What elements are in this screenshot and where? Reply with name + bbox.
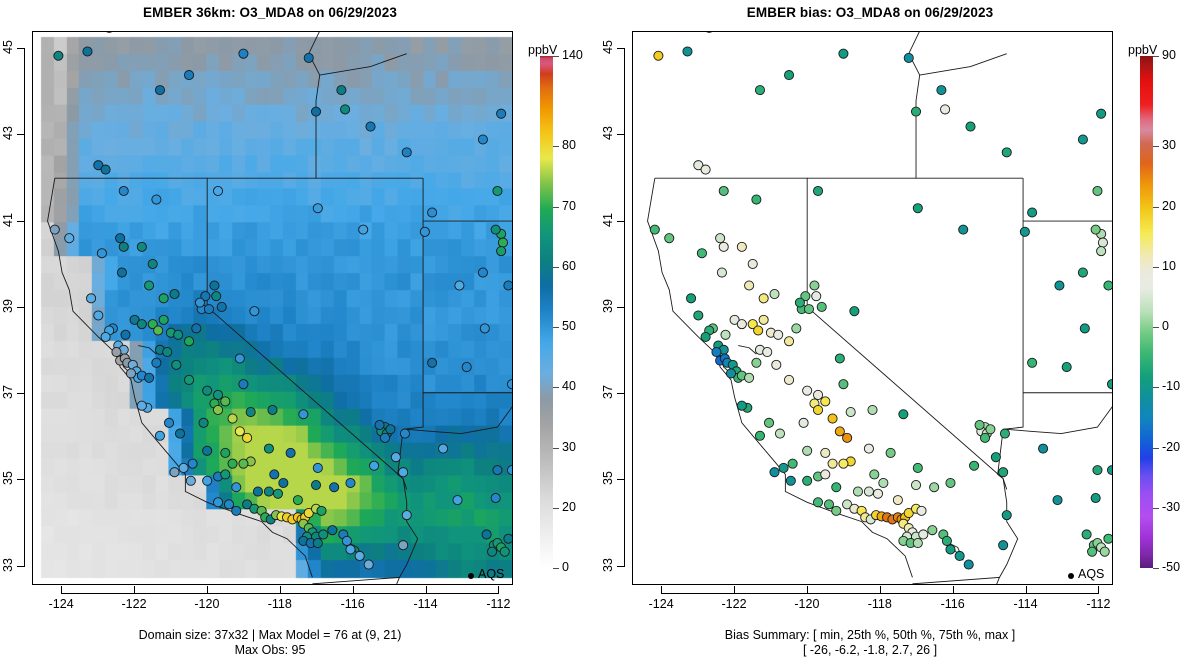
monitor-marker[interactable] xyxy=(213,405,222,414)
monitor-marker[interactable] xyxy=(975,420,984,429)
monitor-marker[interactable] xyxy=(839,380,848,389)
monitor-marker[interactable] xyxy=(97,249,106,258)
monitor-marker[interactable] xyxy=(184,70,193,79)
monitor-marker[interactable] xyxy=(759,315,768,324)
monitor-marker[interactable] xyxy=(1091,225,1100,234)
monitor-marker[interactable] xyxy=(119,186,128,195)
monitor-marker[interactable] xyxy=(478,268,487,277)
monitor-marker[interactable] xyxy=(1091,493,1100,502)
monitor-marker[interactable] xyxy=(391,453,400,462)
x-axis: -124-122-120-118-116-114-112 xyxy=(32,585,513,615)
x-tick-label: -116 xyxy=(935,597,971,611)
monitor-marker[interactable] xyxy=(311,107,320,116)
monitor-marker[interactable] xyxy=(1100,547,1109,556)
monitor-marker[interactable] xyxy=(224,500,233,509)
monitor-marker[interactable] xyxy=(164,418,173,427)
monitor-marker[interactable] xyxy=(803,386,812,395)
monitor-marker[interactable] xyxy=(453,496,462,505)
monitor-marker[interactable] xyxy=(763,347,772,356)
monitor-marker[interactable] xyxy=(1080,324,1089,333)
monitor-marker[interactable] xyxy=(1062,362,1071,371)
monitor-marker[interactable] xyxy=(235,354,244,363)
monitor-marker[interactable] xyxy=(428,208,437,217)
monitor-marker[interactable] xyxy=(152,195,161,204)
monitor-marker[interactable] xyxy=(213,186,222,195)
monitor-marker[interactable] xyxy=(210,281,219,290)
monitor-marker[interactable] xyxy=(1028,208,1037,217)
monitor-marker[interactable] xyxy=(665,234,674,243)
monitor-marker[interactable] xyxy=(1000,429,1009,438)
monitor-marker[interactable] xyxy=(380,433,389,442)
monitor-marker[interactable] xyxy=(402,511,411,520)
monitor-marker[interactable] xyxy=(946,545,955,554)
monitor-points xyxy=(633,32,1112,584)
monitor-marker[interactable] xyxy=(779,463,788,472)
monitor-marker[interactable] xyxy=(850,307,859,316)
monitor-marker[interactable] xyxy=(83,47,92,56)
colorbar-tick xyxy=(553,448,559,449)
monitor-marker[interactable] xyxy=(770,468,779,477)
monitor-marker[interactable] xyxy=(835,354,844,363)
colorbar-tick-label: 70 xyxy=(562,199,576,213)
monitor-marker[interactable] xyxy=(359,225,368,234)
colorbar-tick xyxy=(553,508,559,509)
monitor-marker[interactable] xyxy=(737,242,746,251)
monitor-marker[interactable] xyxy=(121,330,130,339)
monitor-marker[interactable] xyxy=(137,401,146,410)
monitor-marker[interactable] xyxy=(264,444,273,453)
monitor-marker[interactable] xyxy=(420,227,429,236)
monitor-marker[interactable] xyxy=(286,448,295,457)
monitor-marker[interactable] xyxy=(212,292,221,301)
monitor-marker[interactable] xyxy=(232,506,241,515)
monitor-marker[interactable] xyxy=(821,397,830,406)
y-tick xyxy=(17,566,25,567)
y-tick-label: 37 xyxy=(601,374,615,410)
monitor-marker[interactable] xyxy=(701,165,710,174)
monitor-marker[interactable] xyxy=(824,500,833,509)
monitor-marker[interactable] xyxy=(999,468,1008,477)
colorbar-tick-label: 10 xyxy=(1162,259,1176,273)
monitor-marker[interactable] xyxy=(913,538,922,547)
monitor-marker[interactable] xyxy=(268,405,277,414)
monitor-marker[interactable] xyxy=(913,463,922,472)
monitor-marker[interactable] xyxy=(788,459,797,468)
monitor-marker[interactable] xyxy=(1039,444,1048,453)
monitor-marker[interactable] xyxy=(504,281,512,290)
monitor-marker[interactable] xyxy=(1028,358,1037,367)
monitor-marker[interactable] xyxy=(964,560,973,569)
monitor-marker[interactable] xyxy=(399,541,408,550)
monitor-marker[interactable] xyxy=(228,459,237,468)
monitor-marker[interactable] xyxy=(1093,466,1102,475)
monitor-marker[interactable] xyxy=(337,86,346,95)
monitor-marker[interactable] xyxy=(792,324,801,333)
monitor-marker[interactable] xyxy=(813,405,822,414)
monitor-marker[interactable] xyxy=(126,369,135,378)
colorbar-gradient xyxy=(540,56,553,568)
monitor-marker[interactable] xyxy=(917,506,926,515)
x-tick-label: -118 xyxy=(262,597,298,611)
colorbar-gradient xyxy=(1140,56,1153,568)
monitor-marker[interactable] xyxy=(152,358,161,367)
monitor-marker[interactable] xyxy=(155,86,164,95)
monitor-marker[interactable] xyxy=(101,165,110,174)
monitor-marker[interactable] xyxy=(752,195,761,204)
monitor-marker[interactable] xyxy=(828,414,837,423)
monitor-marker[interactable] xyxy=(154,326,163,335)
monitor-marker[interactable] xyxy=(719,242,728,251)
monitor-marker[interactable] xyxy=(482,530,491,539)
monitor-marker[interactable] xyxy=(369,461,378,470)
monitor-marker[interactable] xyxy=(650,225,659,234)
monitor-marker[interactable] xyxy=(273,489,282,498)
monitor-marker[interactable] xyxy=(480,324,489,333)
monitor-marker[interactable] xyxy=(402,148,411,157)
monitor-marker[interactable] xyxy=(195,298,204,307)
monitor-marker[interactable] xyxy=(1055,281,1064,290)
monitor-marker[interactable] xyxy=(155,431,164,440)
monitor-marker[interactable] xyxy=(774,330,783,339)
x-tick-label: -122 xyxy=(116,597,152,611)
monitor-marker[interactable] xyxy=(886,448,895,457)
monitor-marker[interactable] xyxy=(507,466,512,475)
monitor-marker[interactable] xyxy=(745,373,754,382)
figure-root: EMBER 36km: O3_MDA8 on 06/29/2023AQS-124… xyxy=(0,0,1200,672)
y-axis: 33353739414345 xyxy=(602,31,632,585)
monitor-marker[interactable] xyxy=(683,47,692,56)
monitor-marker[interactable] xyxy=(946,478,955,487)
monitor-marker[interactable] xyxy=(755,86,764,95)
monitor-marker[interactable] xyxy=(795,298,804,307)
monitor-marker[interactable] xyxy=(1104,534,1112,543)
monitor-marker[interactable] xyxy=(507,380,512,389)
monitor-marker[interactable] xyxy=(784,375,793,384)
monitor-marker[interactable] xyxy=(172,360,181,369)
monitor-marker[interactable] xyxy=(813,498,822,507)
monitor-marker[interactable] xyxy=(491,493,500,502)
monitor-marker[interactable] xyxy=(145,373,154,382)
plot-area xyxy=(32,31,513,585)
monitor-marker[interactable] xyxy=(493,186,502,195)
monitor-marker[interactable] xyxy=(697,249,706,258)
monitor-marker[interactable] xyxy=(54,51,63,60)
monitor-marker[interactable] xyxy=(137,320,146,329)
monitor-marker[interactable] xyxy=(497,247,506,256)
monitor-marker[interactable] xyxy=(65,234,74,243)
monitor-marker[interactable] xyxy=(969,461,978,470)
x-tick xyxy=(1098,586,1099,594)
monitor-marker[interactable] xyxy=(937,86,946,95)
monitor-marker[interactable] xyxy=(299,410,308,419)
monitor-marker[interactable] xyxy=(828,459,837,468)
y-tick-label: 33 xyxy=(601,547,615,583)
monitor-marker[interactable] xyxy=(400,429,409,438)
monitor-marker[interactable] xyxy=(204,305,213,314)
monitor-marker[interactable] xyxy=(279,478,288,487)
monitor-marker[interactable] xyxy=(853,487,862,496)
colorbar-tick xyxy=(1153,387,1159,388)
monitor-marker[interactable] xyxy=(342,536,351,545)
monitor-marker[interactable] xyxy=(304,53,313,62)
monitor-marker[interactable] xyxy=(119,242,128,251)
monitor-marker[interactable] xyxy=(748,259,757,268)
monitor-marker[interactable] xyxy=(270,470,279,479)
monitor-marker[interactable] xyxy=(498,238,507,247)
monitor-marker[interactable] xyxy=(86,294,95,303)
monitor-marker[interactable] xyxy=(439,444,448,453)
monitor-marker[interactable] xyxy=(1097,247,1106,256)
monitor-marker[interactable] xyxy=(386,425,395,434)
monitor-marker[interactable] xyxy=(821,448,830,457)
monitor-marker[interactable] xyxy=(911,480,920,489)
monitor-marker[interactable] xyxy=(1097,109,1106,118)
monitor-marker[interactable] xyxy=(341,105,350,114)
monitor-marker[interactable] xyxy=(770,289,779,298)
monitor-marker[interactable] xyxy=(772,360,781,369)
monitor-marker[interactable] xyxy=(221,470,230,479)
monitor-marker[interactable] xyxy=(721,330,730,339)
monitor-marker[interactable] xyxy=(184,337,193,346)
monitor-marker[interactable] xyxy=(184,375,193,384)
monitor-marker[interactable] xyxy=(864,444,873,453)
monitor-marker[interactable] xyxy=(701,332,710,341)
monitor-marker[interactable] xyxy=(694,311,703,320)
monitor-marker[interactable] xyxy=(784,337,793,346)
monitor-marker[interactable] xyxy=(764,418,773,427)
monitor-marker[interactable] xyxy=(203,446,212,455)
colorbar-tick xyxy=(553,56,559,57)
monitor-marker[interactable] xyxy=(137,242,146,251)
monitor-marker[interactable] xyxy=(893,496,902,505)
monitor-marker[interactable] xyxy=(832,506,841,515)
colorbar-tick xyxy=(1153,448,1159,449)
monitor-marker[interactable] xyxy=(980,433,989,442)
monitor-marker[interactable] xyxy=(239,380,248,389)
monitor-marker[interactable] xyxy=(428,358,437,367)
monitor-marker[interactable] xyxy=(868,405,877,414)
monitor-marker[interactable] xyxy=(759,294,768,303)
monitor-marker[interactable] xyxy=(328,526,337,535)
monitor-marker[interactable] xyxy=(879,478,888,487)
plot-area xyxy=(632,31,1113,585)
monitor-marker[interactable] xyxy=(313,204,322,213)
monitor-marker[interactable] xyxy=(174,330,183,339)
monitor-marker[interactable] xyxy=(399,468,408,477)
monitor-marker[interactable] xyxy=(504,534,512,543)
monitor-marker[interactable] xyxy=(192,324,201,333)
monitor-marker[interactable] xyxy=(717,268,726,277)
monitor-marker[interactable] xyxy=(999,541,1008,550)
monitor-marker[interactable] xyxy=(491,225,500,234)
monitor-marker[interactable] xyxy=(716,234,725,243)
monitor-marker[interactable] xyxy=(243,433,252,442)
monitor-marker[interactable] xyxy=(163,347,172,356)
monitor-marker[interactable] xyxy=(737,401,746,410)
monitor-marker[interactable] xyxy=(203,386,212,395)
monitor-marker[interactable] xyxy=(239,49,248,58)
monitor-marker[interactable] xyxy=(101,332,110,341)
monitor-marker[interactable] xyxy=(1002,148,1011,157)
monitor-marker[interactable] xyxy=(1082,530,1091,539)
monitor-marker[interactable] xyxy=(1078,268,1087,277)
monitor-marker[interactable] xyxy=(500,547,509,556)
monitor-marker[interactable] xyxy=(726,369,735,378)
monitor-marker[interactable] xyxy=(930,483,939,492)
monitor-marker[interactable] xyxy=(213,390,222,399)
monitor-marker[interactable] xyxy=(966,122,975,131)
monitor-marker[interactable] xyxy=(752,358,761,367)
monitor-marker[interactable] xyxy=(870,470,879,479)
monitor-marker[interactable] xyxy=(170,468,179,477)
monitor-marker[interactable] xyxy=(221,397,230,406)
monitor-marker[interactable] xyxy=(799,418,808,427)
panel-title: EMBER bias: O3_MDA8 on 06/29/2023 xyxy=(600,5,1140,20)
monitor-marker[interactable] xyxy=(803,476,812,485)
monitor-marker[interactable] xyxy=(737,320,746,329)
colorbar-tick xyxy=(553,387,559,388)
monitor-marker[interactable] xyxy=(1088,547,1097,556)
monitor-marker[interactable] xyxy=(928,526,937,535)
monitor-marker[interactable] xyxy=(346,545,355,554)
monitor-marker[interactable] xyxy=(832,483,841,492)
monitor-marker[interactable] xyxy=(478,135,487,144)
footer-line: Domain size: 37x32 | Max Model = 76 at (… xyxy=(0,628,540,643)
monitor-marker[interactable] xyxy=(919,530,928,539)
monitor-marker[interactable] xyxy=(821,470,830,479)
monitor-marker[interactable] xyxy=(217,302,226,311)
monitor-marker[interactable] xyxy=(253,487,262,496)
monitor-marker[interactable] xyxy=(246,407,255,416)
monitor-marker[interactable] xyxy=(955,551,964,560)
monitor-marker[interactable] xyxy=(775,429,784,438)
monitor-marker[interactable] xyxy=(330,483,339,492)
monitor-marker[interactable] xyxy=(839,459,848,468)
monitor-marker[interactable] xyxy=(293,496,302,505)
monitor-marker[interactable] xyxy=(942,536,951,545)
monitor-marker[interactable] xyxy=(175,429,184,438)
monitor-marker[interactable] xyxy=(843,433,852,442)
monitor-marker[interactable] xyxy=(493,466,502,475)
monitor-marker[interactable] xyxy=(319,530,328,539)
monitor-marker[interactable] xyxy=(497,109,506,118)
monitor-marker[interactable] xyxy=(317,506,326,515)
monitor-marker[interactable] xyxy=(1107,380,1112,389)
monitor-marker[interactable] xyxy=(911,107,920,116)
monitor-marker[interactable] xyxy=(94,311,103,320)
footer-line: [ -26, -6.2, -1.8, 2.7, 26 ] xyxy=(600,643,1140,658)
monitor-marker[interactable] xyxy=(864,487,873,496)
monitor-marker[interactable] xyxy=(719,186,728,195)
monitor-marker[interactable] xyxy=(455,281,464,290)
monitor-marker[interactable] xyxy=(784,70,793,79)
monitor-marker[interactable] xyxy=(375,420,384,429)
monitor-marker[interactable] xyxy=(179,463,188,472)
monitor-marker[interactable] xyxy=(745,281,754,290)
monitor-marker[interactable] xyxy=(991,453,1000,462)
monitor-marker[interactable] xyxy=(228,414,237,423)
monitor-marker[interactable] xyxy=(873,489,882,498)
monitor-marker[interactable] xyxy=(1053,496,1062,505)
monitor-marker[interactable] xyxy=(145,281,154,290)
colorbar-tick-label: -20 xyxy=(1162,440,1180,454)
monitor-marker[interactable] xyxy=(839,49,848,58)
monitor-marker[interactable] xyxy=(311,480,320,489)
monitor-marker[interactable] xyxy=(810,281,819,290)
monitor-marker[interactable] xyxy=(813,186,822,195)
monitor-marker[interactable] xyxy=(712,347,721,356)
monitor-marker[interactable] xyxy=(186,476,195,485)
monitor-marker[interactable] xyxy=(232,483,241,492)
colorbar-tick-label: 90 xyxy=(1162,48,1176,62)
monitor-marker[interactable] xyxy=(813,390,822,399)
monitor-marker[interactable] xyxy=(264,487,273,496)
monitor-marker[interactable] xyxy=(488,547,497,556)
monitor-marker[interactable] xyxy=(50,225,59,234)
monitor-marker[interactable] xyxy=(199,418,208,427)
monitor-marker[interactable] xyxy=(1020,227,1029,236)
monitor-marker[interactable] xyxy=(1093,186,1102,195)
y-tick xyxy=(617,134,625,135)
monitor-marker[interactable] xyxy=(188,459,197,468)
monitor-marker[interactable] xyxy=(213,498,222,507)
monitor-marker[interactable] xyxy=(159,294,168,303)
monitor-marker[interactable] xyxy=(116,234,125,243)
monitor-marker[interactable] xyxy=(313,538,322,547)
monitor-marker[interactable] xyxy=(159,315,168,324)
monitor-marker[interactable] xyxy=(346,478,355,487)
monitor-marker[interactable] xyxy=(986,425,995,434)
monitor-marker[interactable] xyxy=(112,347,121,356)
monitor-marker[interactable] xyxy=(754,326,763,335)
monitor-marker[interactable] xyxy=(364,560,373,569)
monitor-marker[interactable] xyxy=(117,268,126,277)
monitor-marker[interactable] xyxy=(313,463,322,472)
monitor-marker[interactable] xyxy=(1107,466,1112,475)
monitor-marker[interactable] xyxy=(904,53,913,62)
monitor-marker[interactable] xyxy=(462,362,471,371)
monitor-marker[interactable] xyxy=(1098,238,1107,247)
monitor-marker[interactable] xyxy=(1078,135,1087,144)
monitor-marker[interactable] xyxy=(1002,511,1011,520)
monitor-marker[interactable] xyxy=(250,307,259,316)
x-tick xyxy=(280,586,281,594)
monitor-marker[interactable] xyxy=(835,427,844,436)
monitor-marker[interactable] xyxy=(239,459,248,468)
monitor-marker[interactable] xyxy=(235,427,244,436)
monitor-marker[interactable] xyxy=(755,431,764,440)
monitor-marker[interactable] xyxy=(812,292,821,301)
monitor-marker[interactable] xyxy=(786,476,795,485)
monitor-marker[interactable] xyxy=(846,407,855,416)
monitor-marker[interactable] xyxy=(1104,281,1112,290)
monitor-marker[interactable] xyxy=(221,448,230,457)
monitor-marker[interactable] xyxy=(654,51,663,60)
monitor-marker[interactable] xyxy=(203,476,212,485)
monitor-marker[interactable] xyxy=(959,225,968,234)
monitor-marker[interactable] xyxy=(803,446,812,455)
monitor-marker[interactable] xyxy=(941,105,950,114)
monitor-marker[interactable] xyxy=(686,294,695,303)
monitor-marker[interactable] xyxy=(899,410,908,419)
monitor-marker[interactable] xyxy=(913,204,922,213)
monitor-marker[interactable] xyxy=(170,289,179,298)
monitor-marker[interactable] xyxy=(366,122,375,131)
monitor-marker[interactable] xyxy=(355,551,364,560)
monitor-marker[interactable] xyxy=(148,259,157,268)
monitor-marker[interactable] xyxy=(817,302,826,311)
monitor-marker[interactable] xyxy=(804,305,813,314)
